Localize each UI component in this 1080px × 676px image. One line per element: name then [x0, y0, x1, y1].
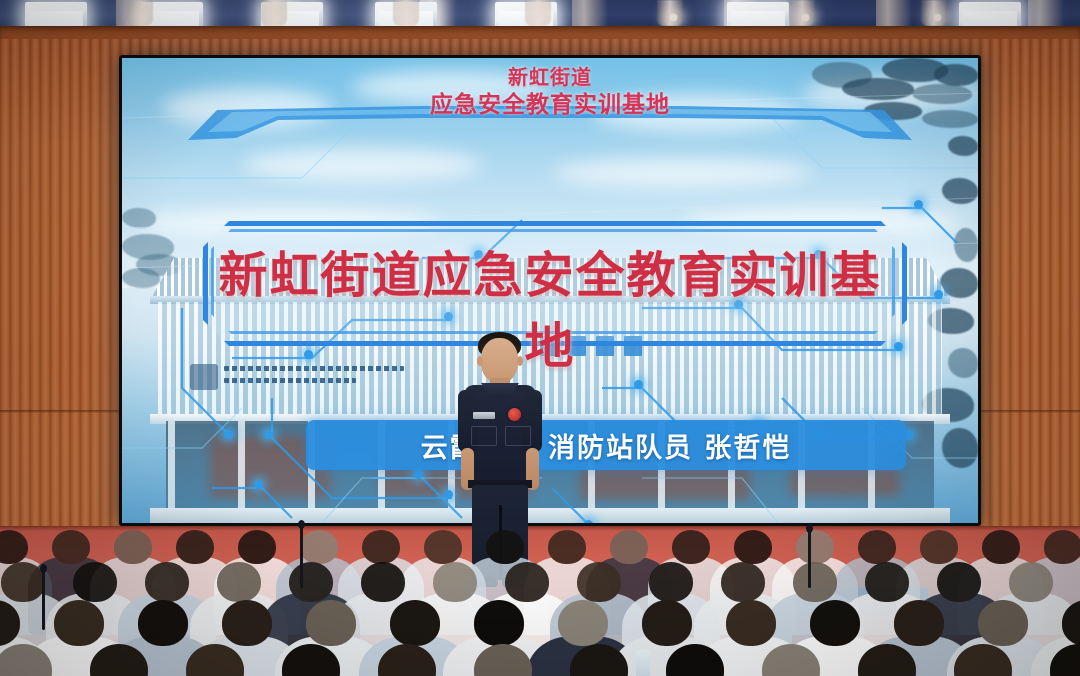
audience-member-head	[1, 562, 45, 602]
audience-member-head	[726, 600, 776, 646]
audience-member-head	[810, 600, 860, 646]
audience-member-head	[1044, 530, 1080, 564]
ceiling-fixture-mount	[525, 0, 551, 26]
audience-member-head	[734, 530, 772, 564]
audience-member-head	[217, 562, 261, 602]
audience-member-head	[390, 600, 440, 646]
audience-member-head	[52, 530, 90, 564]
glass-mullion	[238, 421, 245, 511]
audience-member-head	[73, 562, 117, 602]
audience	[0, 500, 1080, 676]
audience-member-head	[796, 530, 834, 564]
ceiling-fixture-mount	[261, 0, 287, 26]
audience-member-head	[474, 600, 524, 646]
audience-member-head	[306, 600, 356, 646]
audience-member-head	[424, 530, 462, 564]
led-screen: 新虹街道 应急安全教育实训基地 新虹街道应急安全教育实训基地 云霞绿地 消防站队…	[122, 58, 978, 523]
audience-member-head	[721, 562, 765, 602]
ceiling-fixture-mount	[657, 0, 683, 26]
speaker-ear	[517, 356, 523, 366]
audience-member-head	[978, 600, 1028, 646]
ceiling-fixture-mount	[789, 0, 815, 26]
audience-member-head	[920, 530, 958, 564]
audience-member-head	[176, 530, 214, 564]
audience-member-head	[610, 530, 648, 564]
audience-member-head	[672, 530, 710, 564]
audience-member-head	[300, 530, 338, 564]
audience-member-head	[486, 530, 524, 564]
ceiling-fixture-mount	[921, 0, 947, 26]
circuit-node	[934, 290, 943, 299]
microphone-icon	[808, 530, 811, 588]
tree-foliage	[954, 228, 978, 262]
slide-header-line2: 应急安全教育实训基地	[122, 90, 978, 120]
audience-member-head	[505, 562, 549, 602]
microphone-icon	[300, 526, 303, 588]
audience-member-head	[145, 562, 189, 602]
audience-member-head	[858, 530, 896, 564]
circuit-node	[914, 200, 923, 209]
audience-member-head	[558, 600, 608, 646]
water-bottle	[636, 650, 650, 676]
audience-member-head	[362, 530, 400, 564]
slide-header: 新虹街道 应急安全教育实训基地	[122, 64, 978, 121]
microphone-icon	[42, 570, 45, 630]
audience-member-head	[361, 562, 405, 602]
circuit-node	[254, 480, 263, 489]
audience-member-head	[1009, 562, 1053, 602]
photo-scene: 新虹街道 应急安全教育实训基地 新虹街道应急安全教育实训基地 云霞绿地 消防站队…	[0, 0, 1080, 676]
tree-foliage	[122, 208, 156, 228]
audience-member-head	[982, 530, 1020, 564]
wall-top-trim	[0, 26, 1080, 39]
tree-foliage	[948, 348, 978, 378]
audience-member-head	[54, 600, 104, 646]
ceiling-fixture-mount	[393, 0, 419, 26]
audience-member-head	[138, 600, 188, 646]
speaker-head	[481, 338, 518, 383]
audience-member-head	[289, 562, 333, 602]
audience-member-head	[222, 600, 272, 646]
circuit-node	[224, 430, 233, 439]
speaker-pocket	[471, 426, 497, 446]
speaker-ear	[477, 356, 483, 366]
tree-foliage	[942, 178, 978, 204]
caption-text: 云霞绿地 消防站队员 张哲恺	[306, 420, 906, 470]
speaker-pocket	[505, 426, 531, 446]
audience-member-head	[433, 562, 477, 602]
circuit-node	[414, 470, 423, 479]
glass-mullion	[168, 421, 175, 511]
audience-member-head	[238, 530, 276, 564]
circuit-node	[264, 430, 273, 439]
audience-member-head	[577, 562, 621, 602]
audience-member-head	[937, 562, 981, 602]
slide-header-line1: 新虹街道	[122, 64, 978, 90]
audience-member-head	[642, 600, 692, 646]
audience-member-head	[548, 530, 586, 564]
speaker-chest-badge-icon	[508, 408, 521, 421]
audience-member-head	[894, 600, 944, 646]
slide-main-title: 新虹街道应急安全教育实训基地	[203, 236, 897, 378]
audience-member-head	[114, 530, 152, 564]
audience-member-head	[865, 562, 909, 602]
circuit-node	[634, 380, 643, 389]
speaker-nameplate	[473, 412, 495, 419]
building-sign-text-line	[224, 378, 356, 383]
ceiling-fixture-mount	[127, 0, 153, 26]
audience-member-head	[793, 562, 837, 602]
audience-member-head	[649, 562, 693, 602]
